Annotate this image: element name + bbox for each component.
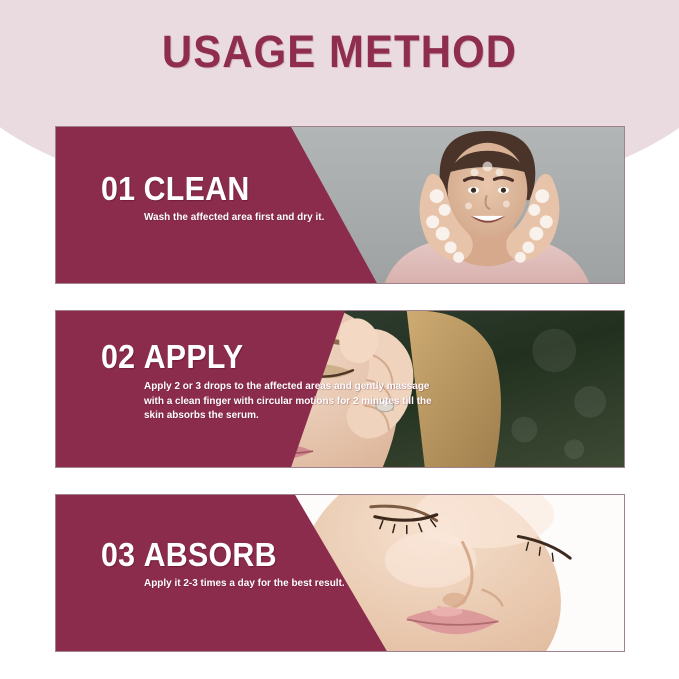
step-01-heading: 01CLEAN: [101, 171, 315, 207]
step-card-03: 03ABSORB Apply it 2-3 times a day for th…: [55, 494, 625, 652]
page-title: USAGE METHOD: [24, 26, 655, 78]
step-02-name: APPLY: [144, 338, 244, 375]
step-01-copy: 01CLEAN Wash the affected area first and…: [101, 171, 334, 225]
usage-method-infographic: USAGE METHOD: [0, 0, 679, 679]
step-03-heading: 03ABSORB: [101, 537, 335, 573]
step-01-number: 01: [101, 170, 135, 207]
step-01-description: Wash the affected area first and dry it.: [144, 210, 324, 225]
step-03-name: ABSORB: [144, 536, 277, 573]
step-01-name: CLEAN: [144, 170, 250, 207]
step-02-copy: 02APPLY Apply 2 or 3 drops to the affect…: [101, 339, 464, 423]
step-card-01: 01CLEAN Wash the affected area first and…: [55, 126, 625, 284]
step-03-description: Apply it 2-3 times a day for the best re…: [144, 576, 345, 591]
step-02-number: 02: [101, 338, 135, 375]
step-card-02: 02APPLY Apply 2 or 3 drops to the affect…: [55, 310, 625, 468]
step-02-heading: 02APPLY: [101, 339, 435, 375]
step-03-number: 03: [101, 536, 135, 573]
step-02-description: Apply 2 or 3 drops to the affected areas…: [144, 379, 448, 423]
step-03-copy: 03ABSORB Apply it 2-3 times a day for th…: [101, 537, 355, 591]
